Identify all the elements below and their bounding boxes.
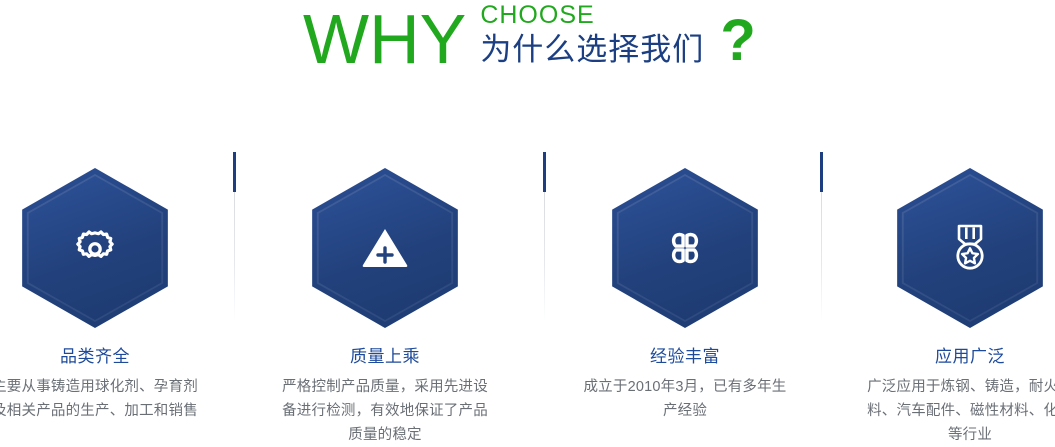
header-title-group: WHY CHOOSE 为什么选择我们 ? bbox=[303, 0, 756, 74]
card-title: 经验丰富 bbox=[565, 346, 805, 368]
card-title: 质量上乘 bbox=[265, 346, 505, 368]
header-text-stack: CHOOSE 为什么选择我们 bbox=[480, 2, 704, 69]
hexagon-badge bbox=[893, 168, 1048, 328]
triangle-plus-icon bbox=[308, 168, 463, 328]
card-description: 严格控制产品质量，采用先进设备进行检测，有效地保证了产品质量的稳定 bbox=[265, 375, 505, 447]
header-chinese-title: 为什么选择我们 bbox=[480, 31, 704, 69]
column-separator bbox=[820, 152, 823, 322]
column-separator bbox=[543, 152, 546, 322]
hexagon-badge bbox=[308, 168, 463, 328]
hexagon-badge bbox=[18, 168, 173, 328]
four-petal-clover-icon bbox=[608, 168, 763, 328]
separator-tail bbox=[234, 192, 235, 322]
feature-cards-row: 品类齐全 主要从事铸造用球化剂、孕育剂及相关产品的生产、加工和销售 质量上乘 严… bbox=[0, 140, 1055, 416]
feature-card[interactable]: 品类齐全 主要从事铸造用球化剂、孕育剂及相关产品的生产、加工和销售 bbox=[0, 140, 215, 423]
separator-accent bbox=[820, 152, 823, 192]
card-description: 广泛应用于炼钢、铸造，耐火材料、汽车配件、磁性材料、化工等行业 bbox=[850, 375, 1055, 447]
separator-tail bbox=[821, 192, 822, 322]
gear-icon bbox=[18, 168, 173, 328]
feature-card[interactable]: 质量上乘 严格控制产品质量，采用先进设备进行检测，有效地保证了产品质量的稳定 bbox=[265, 140, 505, 447]
header-question-mark: ? bbox=[720, 12, 755, 70]
card-title: 应用广泛 bbox=[850, 346, 1055, 368]
separator-accent bbox=[233, 152, 236, 192]
header-why-word: WHY bbox=[303, 4, 466, 74]
separator-tail bbox=[544, 192, 545, 322]
page-header: WHY CHOOSE 为什么选择我们 ? bbox=[0, 0, 1055, 92]
feature-card[interactable]: 应用广泛 广泛应用于炼钢、铸造，耐火材料、汽车配件、磁性材料、化工等行业 bbox=[850, 140, 1055, 447]
feature-card[interactable]: 经验丰富 成立于2010年3月，已有多年生产经验 bbox=[565, 140, 805, 423]
header-choose-word: CHOOSE bbox=[480, 2, 704, 29]
separator-accent bbox=[543, 152, 546, 192]
hexagon-badge bbox=[608, 168, 763, 328]
column-separator bbox=[233, 152, 236, 322]
card-title: 品类齐全 bbox=[0, 346, 215, 368]
medal-icon bbox=[893, 168, 1048, 328]
